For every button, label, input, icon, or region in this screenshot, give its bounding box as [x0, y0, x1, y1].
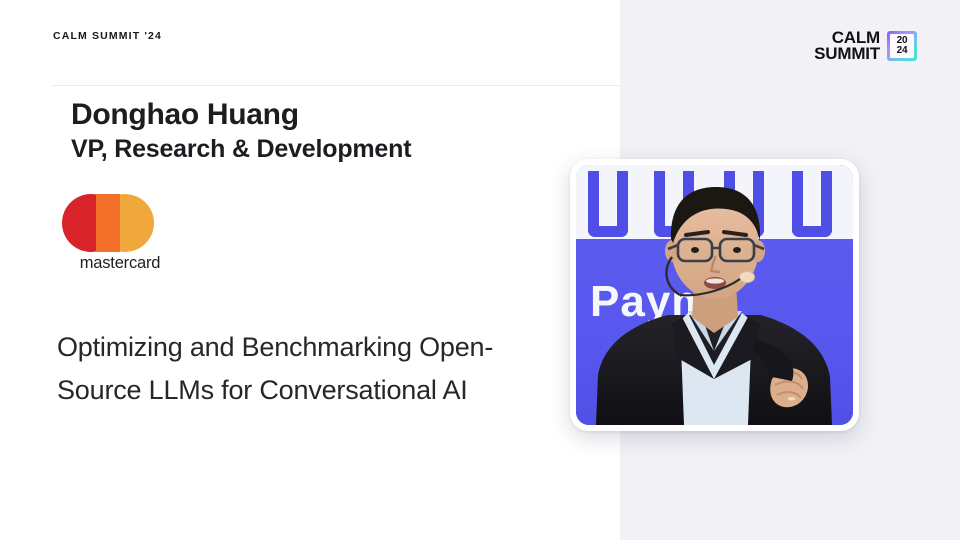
event-eyebrow-label: CALM SUMMIT '24 — [53, 30, 162, 42]
event-logo: CALM SUMMIT 20 24 — [814, 30, 917, 62]
slide-canvas: CALM SUMMIT '24 CALM SUMMIT 20 24 Dongha… — [0, 0, 960, 540]
speaker-photo-card: Paymu — [570, 159, 859, 431]
event-year-badge: 20 24 — [887, 31, 917, 61]
event-year-bottom: 24 — [897, 46, 908, 56]
event-logo-wordmark: CALM SUMMIT — [814, 30, 880, 62]
speaker-role: VP, Research & Development — [71, 135, 411, 164]
event-logo-line-2: SUMMIT — [814, 46, 880, 62]
mastercard-overlap-icon — [96, 194, 120, 252]
company-logo-mastercard: mastercard — [62, 194, 178, 276]
mastercard-circles-icon — [62, 194, 178, 252]
header-divider — [52, 85, 620, 86]
speaker-name: Donghao Huang — [71, 98, 299, 132]
company-wordmark: mastercard — [62, 254, 178, 273]
speaker-photo: Paymu — [576, 165, 853, 425]
speaker-person-illustration — [576, 165, 853, 425]
event-year-badge-inner: 20 24 — [890, 34, 914, 58]
talk-title: Optimizing and Benchmarking Open-Source … — [57, 326, 527, 412]
